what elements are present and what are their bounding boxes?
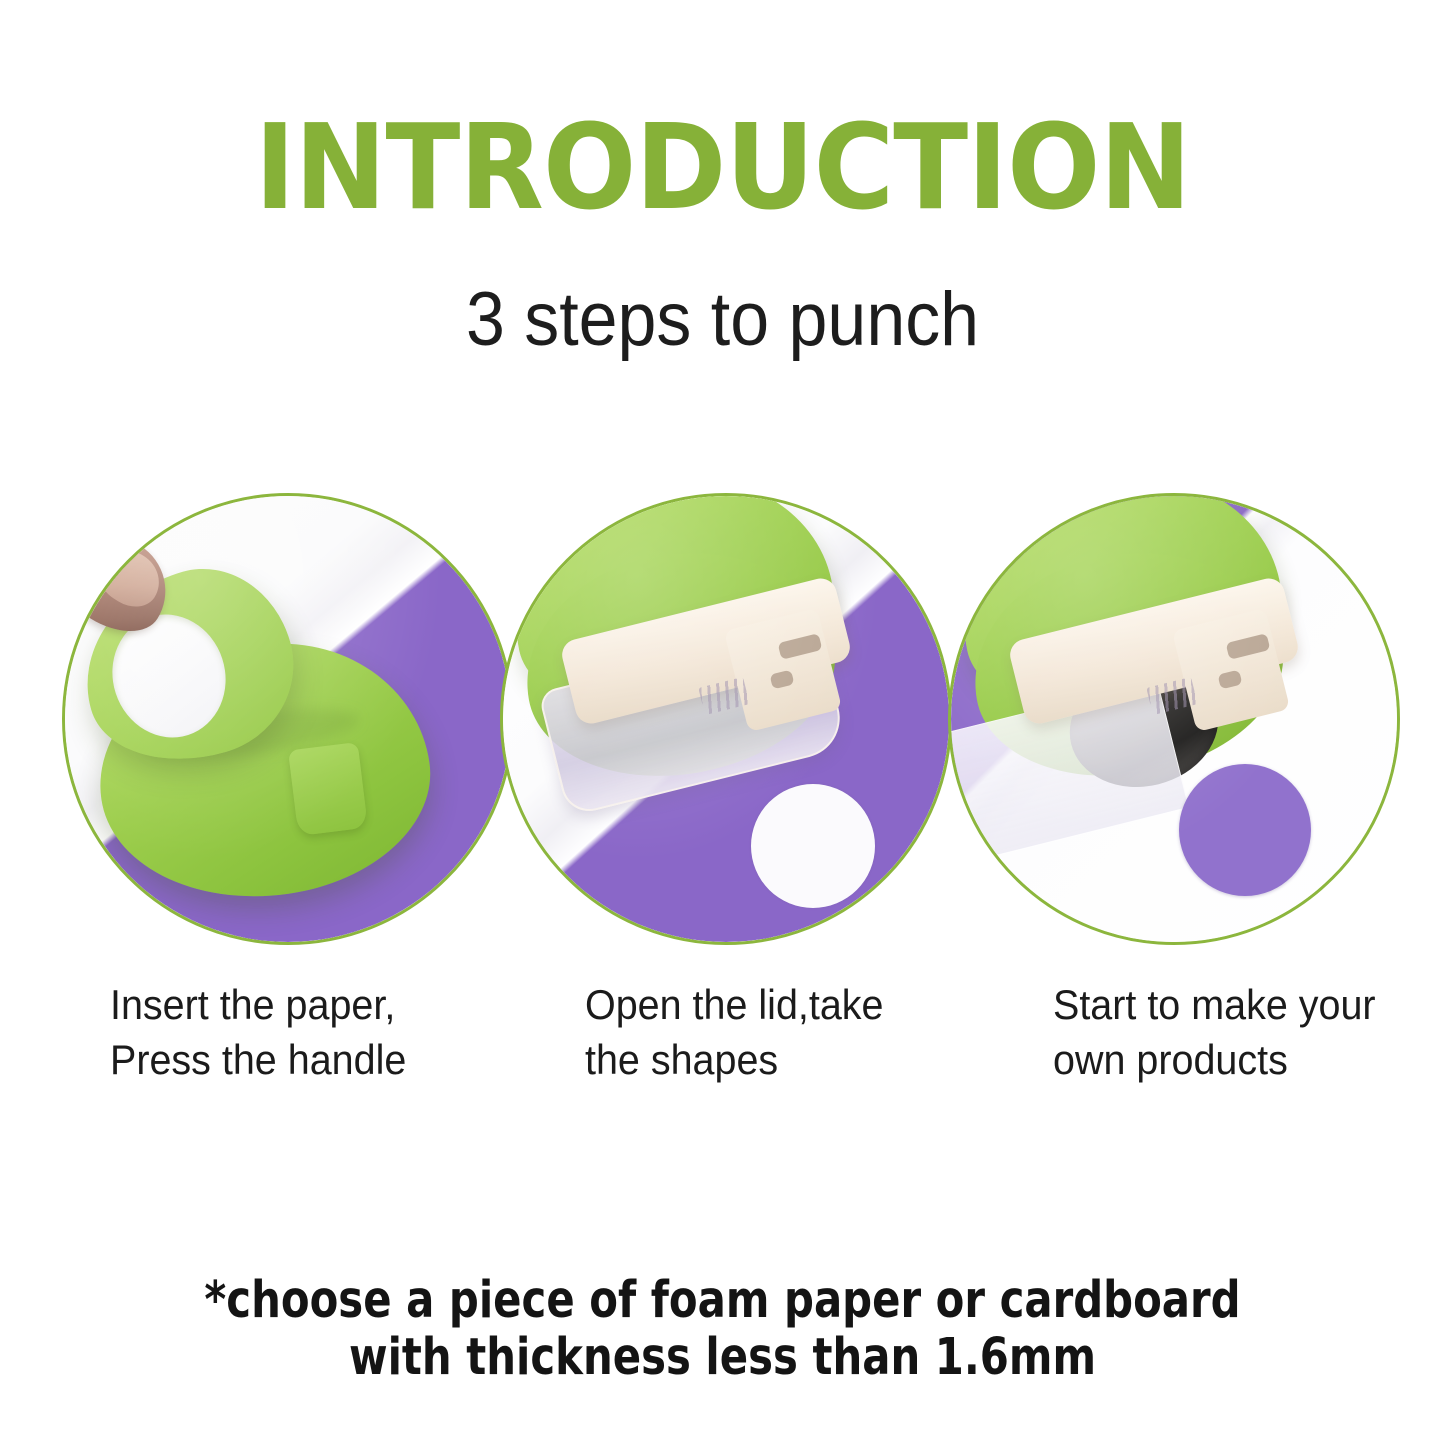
step-1 — [62, 493, 514, 945]
step-1-caption: Insert the paper, Press the handle — [110, 978, 406, 1087]
step-2-photo — [500, 493, 952, 945]
page-subtitle: 3 steps to punch — [58, 282, 1387, 358]
step-3-caption: Start to make your own products — [1053, 978, 1376, 1087]
punch-lever-icon — [288, 742, 368, 836]
footnote: *choose a piece of foam paper or cardboa… — [130, 1272, 1315, 1386]
page-title: INTRODUCTION — [51, 108, 1395, 226]
punched-white-circle — [751, 784, 875, 908]
step-3-photo — [948, 493, 1400, 945]
step-3 — [948, 493, 1400, 945]
step-2-caption: Open the lid,take the shapes — [585, 978, 883, 1087]
punched-purple-circle — [1179, 764, 1311, 896]
step-1-photo — [62, 493, 514, 945]
step-2 — [500, 493, 952, 945]
